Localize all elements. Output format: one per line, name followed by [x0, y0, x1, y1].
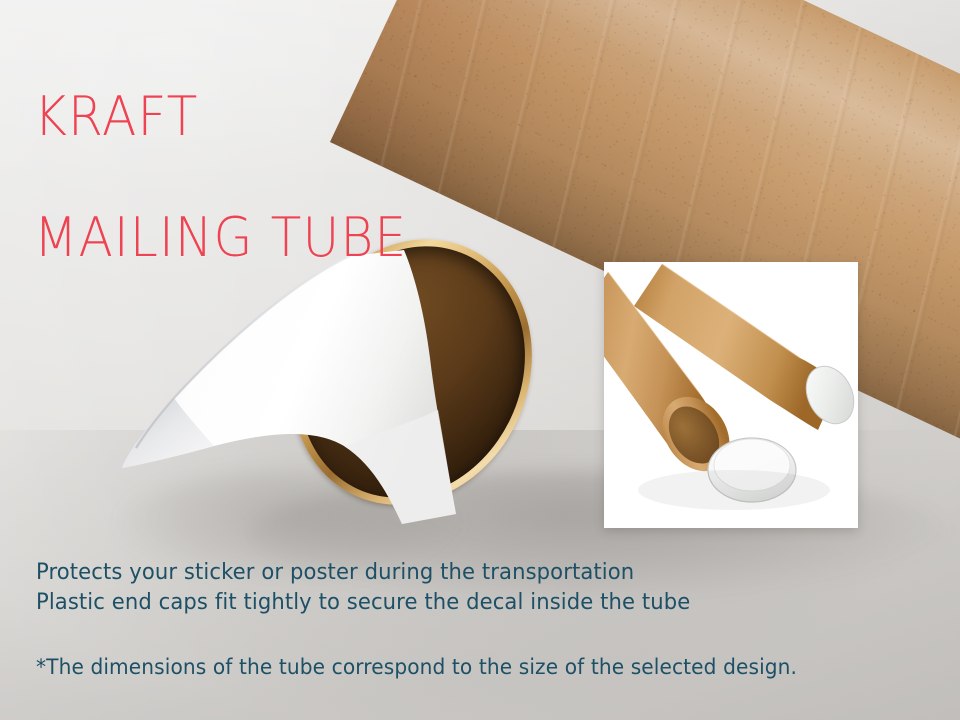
body-copy: Protects your sticker or poster during t…: [36, 558, 718, 618]
headline-line-1: KRAFT: [34, 88, 407, 146]
body-line-1: Protects your sticker or poster during t…: [36, 558, 690, 588]
inset-ground-shadow: [638, 470, 830, 510]
promo-banner: KRAFT MAILING TUBE: [0, 0, 960, 720]
footnote: *The dimensions of the tube correspond t…: [36, 655, 797, 679]
page-title: KRAFT MAILING TUBE: [34, 30, 435, 326]
body-line-2: Plastic end caps fit tightly to secure t…: [36, 588, 690, 618]
inset-photo-artwork: [604, 262, 858, 528]
inset-product-photo: [604, 262, 858, 528]
headline-line-2: MAILING TUBE: [34, 209, 407, 267]
